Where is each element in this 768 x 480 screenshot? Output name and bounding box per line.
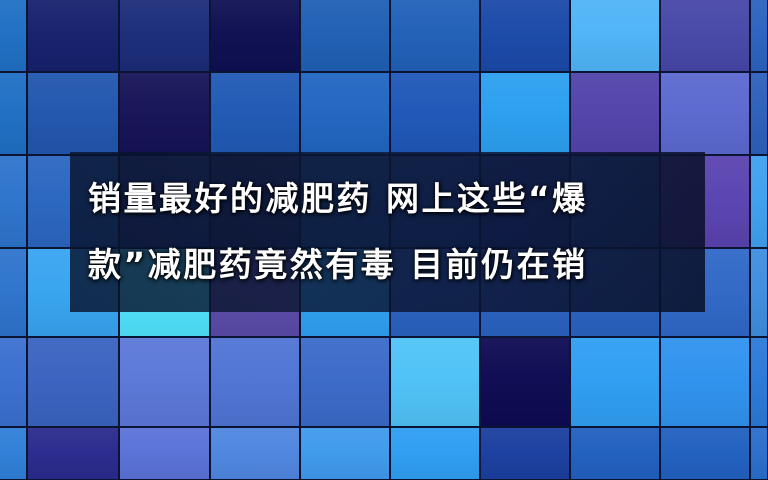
mosaic-tile xyxy=(301,338,389,426)
mosaic-tile xyxy=(120,73,209,154)
mosaic-tile xyxy=(301,73,389,154)
mosaic-tile xyxy=(751,156,767,247)
tile-sheen xyxy=(211,428,299,479)
tile-sheen xyxy=(481,428,569,479)
tile-sheen xyxy=(28,338,118,426)
mosaic-tile xyxy=(661,73,749,154)
tile-sheen xyxy=(571,338,659,426)
mosaic-tile xyxy=(391,73,479,154)
mosaic-tile xyxy=(211,0,299,71)
tile-sheen xyxy=(751,156,767,247)
tile-sheen xyxy=(571,0,659,71)
mosaic-tile xyxy=(481,428,569,479)
tile-sheen xyxy=(120,428,209,479)
mosaic-tile xyxy=(0,338,26,426)
tile-sheen xyxy=(301,428,389,479)
tile-sheen xyxy=(661,0,749,71)
tile-sheen xyxy=(391,0,479,71)
tile-sheen xyxy=(391,73,479,154)
mosaic-tile xyxy=(751,249,767,336)
mosaic-tile xyxy=(391,338,479,426)
mosaic-tile xyxy=(0,249,26,336)
tile-sheen xyxy=(28,0,118,71)
mosaic-tile xyxy=(481,0,569,71)
tile-sheen xyxy=(391,428,479,479)
mosaic-tile xyxy=(28,73,118,154)
mosaic-tile xyxy=(751,338,767,426)
mosaic-tile xyxy=(211,338,299,426)
mosaic-tile xyxy=(0,156,26,247)
mosaic-tile xyxy=(571,338,659,426)
tile-sheen xyxy=(0,249,26,336)
mosaic-tile xyxy=(481,338,569,426)
tile-sheen xyxy=(28,73,118,154)
tile-sheen xyxy=(120,73,209,154)
mosaic-tile xyxy=(481,73,569,154)
tile-sheen xyxy=(571,73,659,154)
mosaic-tile xyxy=(120,0,209,71)
mosaic-tile xyxy=(211,73,299,154)
headline-line-2: 款”减肥药竟然有毒 目前仍在销 xyxy=(88,232,730,298)
tile-sheen xyxy=(0,156,26,247)
tile-sheen xyxy=(301,338,389,426)
mosaic-tile xyxy=(571,428,659,479)
tile-sheen xyxy=(301,0,389,71)
tile-sheen xyxy=(661,338,749,426)
tile-sheen xyxy=(751,73,767,154)
tile-sheen xyxy=(661,73,749,154)
mosaic-tile xyxy=(0,428,26,479)
mosaic-tile xyxy=(661,0,749,71)
mosaic-tile xyxy=(120,338,209,426)
mosaic-tile xyxy=(0,73,26,154)
mosaic-tile xyxy=(28,428,118,479)
mosaic-tile xyxy=(120,428,209,479)
tile-sheen xyxy=(481,73,569,154)
mosaic-tile xyxy=(571,73,659,154)
tile-sheen xyxy=(481,0,569,71)
tile-sheen xyxy=(301,73,389,154)
mosaic-tile xyxy=(301,0,389,71)
mosaic-tile xyxy=(661,338,749,426)
tile-sheen xyxy=(751,0,767,71)
tile-sheen xyxy=(120,338,209,426)
headline-line-1: 销量最好的减肥药 网上这些“爆 xyxy=(88,166,730,232)
headline-block: 销量最好的减肥药 网上这些“爆 款”减肥药竟然有毒 目前仍在销 xyxy=(70,152,730,312)
tile-sheen xyxy=(0,73,26,154)
thumbnail-banner: 销量最好的减肥药 网上这些“爆 款”减肥药竟然有毒 目前仍在销 xyxy=(0,0,768,480)
tile-sheen xyxy=(481,338,569,426)
tile-sheen xyxy=(0,338,26,426)
tile-sheen xyxy=(211,338,299,426)
mosaic-tile xyxy=(751,0,767,71)
tile-sheen xyxy=(211,0,299,71)
tile-sheen xyxy=(0,428,26,479)
mosaic-tile xyxy=(751,428,767,479)
tile-sheen xyxy=(0,0,26,71)
mosaic-tile xyxy=(28,338,118,426)
mosaic-tile xyxy=(301,428,389,479)
tile-sheen xyxy=(211,73,299,154)
tile-sheen xyxy=(751,428,767,479)
mosaic-tile xyxy=(661,428,749,479)
tile-sheen xyxy=(571,428,659,479)
tile-sheen xyxy=(391,338,479,426)
mosaic-tile xyxy=(0,0,26,71)
tile-sheen xyxy=(661,428,749,479)
tile-sheen xyxy=(751,249,767,336)
mosaic-tile xyxy=(211,428,299,479)
tile-sheen xyxy=(751,338,767,426)
mosaic-tile xyxy=(391,428,479,479)
mosaic-tile xyxy=(28,0,118,71)
mosaic-tile xyxy=(571,0,659,71)
mosaic-tile xyxy=(751,73,767,154)
mosaic-tile xyxy=(391,0,479,71)
tile-sheen xyxy=(120,0,209,71)
tile-sheen xyxy=(28,428,118,479)
